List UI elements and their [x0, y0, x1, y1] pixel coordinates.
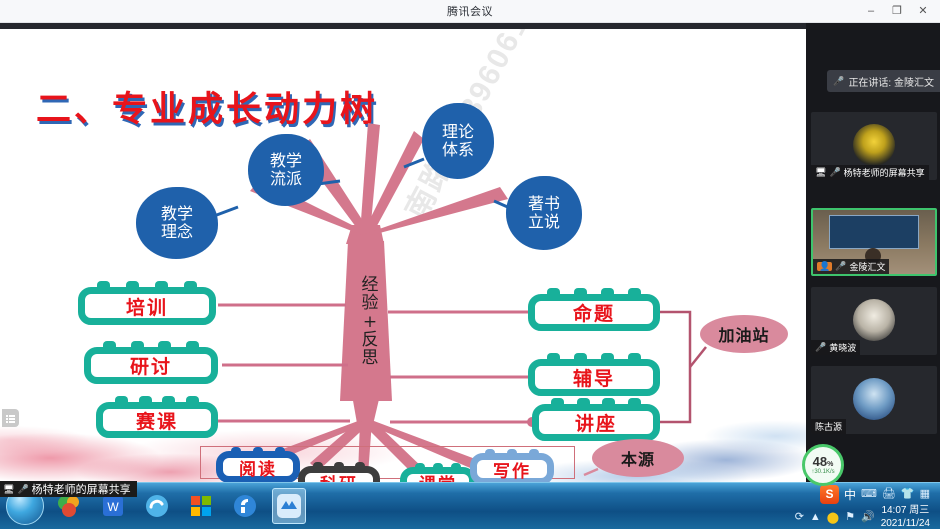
node-writing-books[interactable]: 著书立说 — [506, 176, 582, 250]
windows-taskbar: W — [0, 482, 940, 529]
shield-icon[interactable]: ⬤ — [827, 511, 839, 524]
maximize-button[interactable]: ❐ — [884, 0, 910, 23]
avatar — [853, 299, 895, 341]
box-label: 讲座 — [575, 409, 617, 436]
tray-icon-rows: S 中 ⌨ 🖨 👕 ▦ ⟳ ▲ ⬤ ⚑ 🔊 14:07 周三 2021/11/2… — [795, 483, 930, 529]
box-studs — [547, 353, 641, 362]
screen-share-icon: 🖥 — [815, 168, 826, 177]
taskbar-icon-browser[interactable] — [140, 488, 174, 524]
video-tile-name: 杨特老师的屏幕共享 — [844, 166, 925, 179]
network-percent-value: 48 — [813, 454, 827, 469]
printer-icon[interactable]: 🖨 — [882, 489, 896, 500]
node-label: 理论体系 — [442, 123, 474, 159]
video-tile-namebar: 👤 🎤 金陵汇文 — [813, 259, 889, 274]
avatar — [853, 378, 895, 420]
microphone-icon: 🎤 — [835, 262, 846, 271]
box-studs — [547, 288, 641, 297]
box-competition-class[interactable]: 赛课 — [96, 402, 218, 438]
person-icon: 👤 — [817, 262, 832, 271]
sogou-icon[interactable]: S — [820, 485, 839, 504]
list-icon — [5, 413, 16, 424]
wps-writer-icon: W — [101, 494, 125, 518]
box-label: 辅导 — [573, 364, 615, 391]
clock-time: 14:07 周三 — [881, 505, 930, 518]
network-percent-unit: % — [827, 461, 833, 468]
tray-bottom-row: ⟳ ▲ ⬤ ⚑ 🔊 14:07 周三 2021/11/24 — [795, 505, 930, 529]
callout-label: 加油站 — [718, 322, 769, 346]
node-label: 教学流派 — [270, 152, 302, 188]
share-status-badge: 🖥 🎤 杨特老师的屏幕共享 — [0, 481, 137, 497]
node-theory-system[interactable]: 理论体系 — [422, 103, 494, 179]
projected-screen — [829, 215, 919, 249]
box-label: 科研 — [320, 470, 358, 483]
box-lecture[interactable]: 讲座 — [532, 404, 660, 441]
box-label: 命题 — [573, 299, 615, 326]
box-label: 赛课 — [136, 407, 178, 434]
video-tile-name: 金陵汇文 — [849, 260, 885, 273]
network-speed: ↑30.1K/s — [811, 469, 834, 475]
box-label: 研讨 — [130, 352, 172, 379]
microphone-muted-icon: 🎤 — [17, 485, 28, 494]
video-tile-namebar: 🎤 黄晓波 — [811, 340, 860, 355]
box-writing[interactable]: 写作 — [470, 453, 554, 482]
microphone-muted-icon: 🎤 — [815, 343, 826, 352]
taskbar-icon-flash[interactable] — [228, 488, 262, 524]
avatar — [853, 124, 895, 166]
video-tile-name: 陈古源 — [815, 420, 842, 433]
ime-indicator[interactable]: 中 — [844, 486, 856, 503]
box-studs — [231, 447, 285, 456]
presentation-slide: 南路成1396061 二、专业成长动力树 — [0, 29, 806, 482]
box-classroom[interactable]: 课堂 — [400, 467, 476, 482]
box-studs — [115, 396, 199, 405]
speaking-label: 正在讲话: 金陵汇文 — [848, 74, 934, 89]
sync-icon[interactable]: ⟳ — [795, 512, 804, 523]
speaking-indicator: 🎤 正在讲话: 金陵汇文 — [827, 70, 940, 92]
taskbar-icon-tencent-meeting[interactable] — [272, 488, 306, 524]
screen-share-icon: 🖥 — [3, 485, 14, 494]
taskbar-icon-store[interactable] — [184, 488, 218, 524]
app-root: 腾讯会议 – ❐ ✕ 南路成1396061 二、专业成长动力树 — [0, 0, 940, 529]
callout-origin[interactable]: 本源 — [592, 439, 684, 477]
microphone-icon: 🎤 — [833, 77, 844, 86]
close-button[interactable]: ✕ — [910, 0, 936, 23]
trunk-label: 经验+反思 — [355, 276, 385, 368]
system-tray: S 中 ⌨ 🖨 👕 ▦ ⟳ ▲ ⬤ ⚑ 🔊 14:07 周三 2021/11/2… — [795, 483, 936, 529]
node-teaching-school[interactable]: 教学流派 — [248, 134, 324, 206]
box-studs — [313, 462, 365, 471]
node-teaching-philosophy[interactable]: 教学理念 — [136, 187, 218, 259]
box-tutoring[interactable]: 辅导 — [528, 359, 660, 396]
callout-label: 本源 — [621, 446, 655, 470]
node-label: 著书立说 — [528, 195, 560, 231]
box-proposition[interactable]: 命题 — [528, 294, 660, 331]
apps-grid-icon[interactable]: ▦ — [920, 489, 930, 500]
box-studs — [97, 281, 197, 290]
window-title: 腾讯会议 — [447, 3, 493, 19]
video-tile-jinling-huiwen[interactable]: 👤 🎤 金陵汇文 — [811, 208, 937, 276]
tencent-meeting-icon — [276, 493, 302, 519]
window-controls: – ❐ ✕ — [858, 0, 936, 23]
box-label: 培训 — [126, 293, 168, 320]
node-label: 教学理念 — [161, 205, 193, 241]
box-reading[interactable]: 阅读 — [216, 451, 300, 482]
shirt-icon[interactable]: 👕 — [901, 489, 915, 500]
window-titlebar: 腾讯会议 – ❐ ✕ — [0, 0, 940, 23]
box-studs — [415, 463, 461, 472]
share-status-label: 杨特老师的屏幕共享 — [32, 481, 131, 497]
keyboard-icon[interactable]: ⌨ — [861, 489, 877, 500]
flash-player-icon — [232, 493, 258, 519]
box-research[interactable]: 科研 — [298, 466, 380, 482]
microphone-muted-icon: 🎤 — [829, 168, 840, 177]
box-studs — [103, 341, 199, 350]
panel-list-toggle[interactable] — [2, 409, 19, 427]
tray-top-row: S 中 ⌨ 🖨 👕 ▦ — [820, 483, 930, 505]
box-seminar[interactable]: 研讨 — [84, 347, 218, 384]
video-tile-namebar: 🖥 🎤 杨特老师的屏幕共享 — [811, 165, 929, 180]
box-label: 阅读 — [239, 455, 277, 480]
video-tile-namebar: 陈古源 — [811, 419, 846, 434]
video-tile-screen-share[interactable]: 🖥 🎤 杨特老师的屏幕共享 — [811, 112, 937, 180]
chevron-up-icon[interactable]: ▲ — [810, 512, 821, 523]
callout-gas-station[interactable]: 加油站 — [700, 315, 788, 353]
svg-text:W: W — [107, 500, 119, 514]
video-tile-chen-guyuan[interactable]: 陈古源 — [811, 366, 937, 434]
taskbar-clock[interactable]: 14:07 周三 2021/11/24 — [881, 505, 930, 529]
box-training[interactable]: 培训 — [78, 287, 216, 325]
video-tile-huang-xiaobo[interactable]: 🎤 黄晓波 — [811, 287, 937, 355]
volume-icon[interactable]: 🔊 — [861, 512, 875, 523]
360-browser-icon — [144, 493, 170, 519]
video-sidebar: 🎤 正在讲话: 金陵汇文 🖥 🎤 杨特老师的屏幕共享 👤 🎤 金陵汇文 — [806, 23, 940, 482]
microsoft-store-icon — [190, 495, 212, 517]
minimize-button[interactable]: – — [858, 0, 884, 23]
network-percent: 48% — [813, 455, 834, 468]
box-studs — [485, 449, 539, 458]
box-studs — [551, 398, 641, 407]
video-tile-name: 黄晓波 — [829, 341, 856, 354]
clock-date: 2021/11/24 — [881, 518, 930, 529]
flag-icon[interactable]: ⚑ — [845, 512, 855, 523]
network-speed-widget[interactable]: 48% ↑30.1K/s — [802, 444, 844, 486]
box-label: 写作 — [493, 457, 531, 482]
shared-screen-area[interactable]: 南路成1396061 二、专业成长动力树 — [0, 23, 806, 482]
